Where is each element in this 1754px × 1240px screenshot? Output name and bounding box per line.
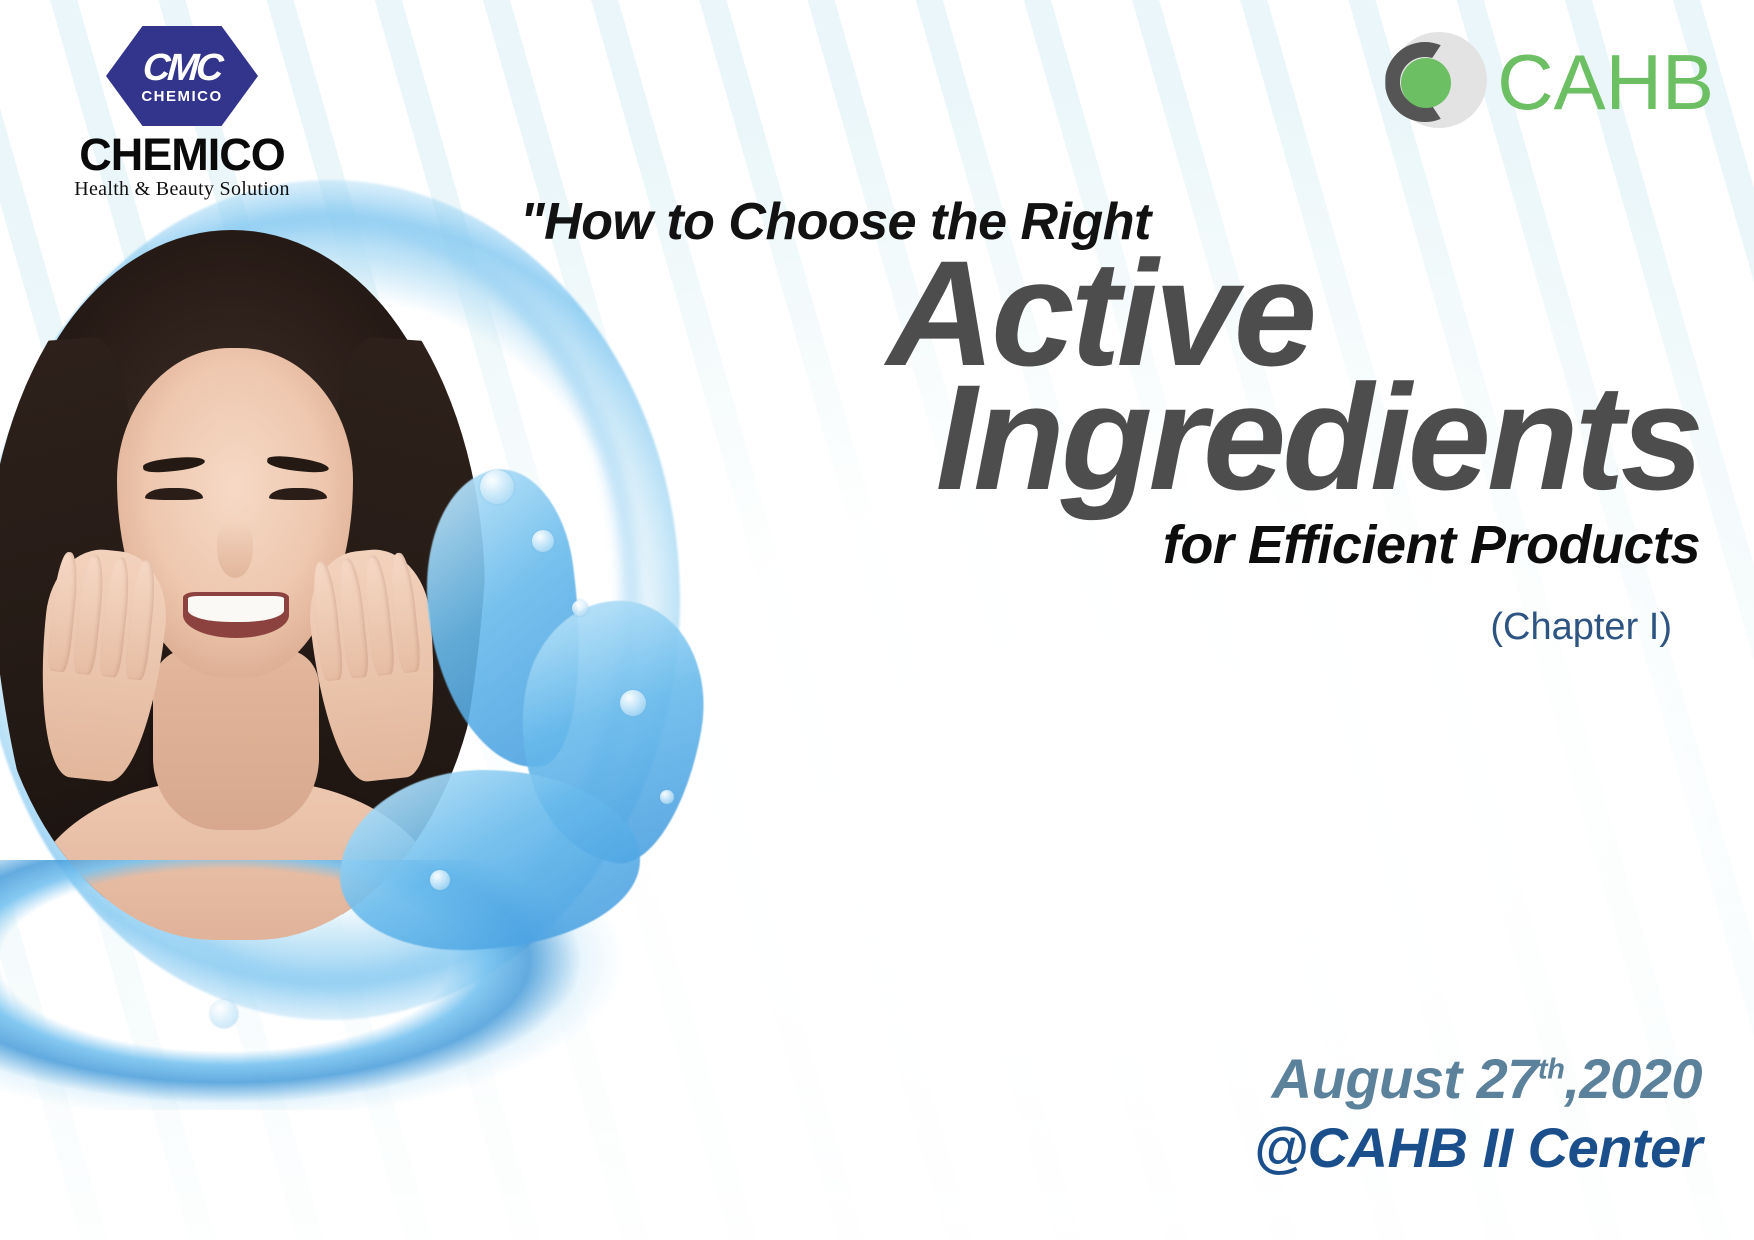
headline-block: "How to Choose the Right Active Ingredie… (500, 195, 1700, 649)
chemico-hexagon-mark: CMC CHEMICO (106, 26, 258, 126)
model-nose (217, 520, 253, 578)
event-date-ordinal: th (1538, 1053, 1564, 1085)
model-eye-right (269, 488, 327, 500)
model-teeth (188, 596, 284, 622)
headline-word-ingredients: Ingredients (500, 368, 1700, 506)
poster-canvas: CMC CHEMICO CHEMICO Health & Beauty Solu… (0, 0, 1754, 1240)
headline-subline: for Efficient Products (500, 514, 1700, 576)
model-smile (183, 592, 289, 638)
chemico-logo[interactable]: CMC CHEMICO CHEMICO Health & Beauty Solu… (62, 26, 302, 201)
chapter-label: (Chapter I) (500, 606, 1700, 649)
finger (124, 559, 158, 681)
event-venue: @CAHB II Center (1254, 1116, 1702, 1180)
model-eye-left (145, 488, 203, 500)
chemico-tagline: Health & Beauty Solution (62, 178, 302, 201)
water-droplet (620, 690, 646, 716)
water-droplet (430, 870, 450, 890)
event-date-prefix: August 27 (1272, 1047, 1538, 1110)
hexagon-shape: CMC CHEMICO (106, 26, 258, 126)
cahb-wordmark: CAHB (1497, 43, 1714, 121)
cahb-circle-mark-icon (1383, 30, 1487, 134)
cmc-subtext: CHEMICO (141, 88, 222, 105)
event-date-suffix: ,2020 (1564, 1047, 1702, 1110)
cahb-logo[interactable]: CAHB (1383, 30, 1714, 134)
event-date: August 27th,2020 (1254, 1048, 1702, 1110)
event-details-block: August 27th,2020 @CAHB II Center (1254, 1048, 1702, 1180)
chemico-wordmark: CHEMICO (62, 132, 302, 177)
water-droplet (210, 1000, 238, 1028)
cmc-monogram: CMC (142, 51, 222, 85)
cahb-green-dot (1401, 58, 1451, 108)
water-droplet (660, 790, 674, 804)
